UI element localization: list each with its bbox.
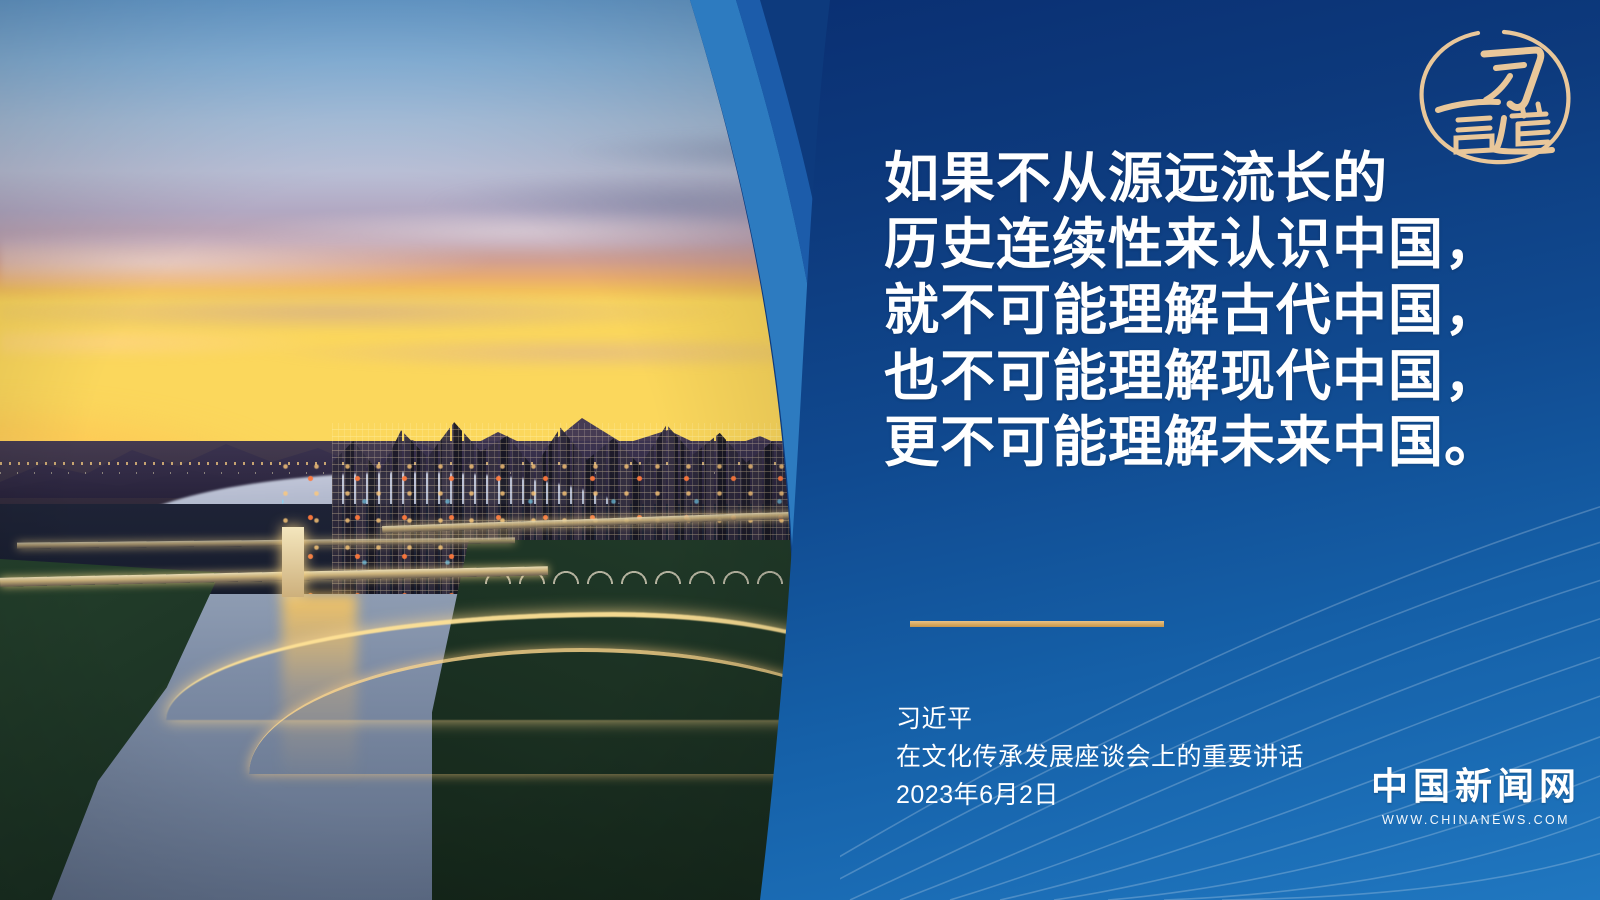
quote-line-2: 历史连续性来认识中国， (884, 212, 1584, 278)
quote-line-4: 也不可能理解现代中国， (884, 344, 1584, 410)
chinanews-logo: 中国新闻网 WWW.CHINANEWS.COM (1368, 766, 1584, 827)
quote-text: 如果不从源远流长的 历史连续性来认识中国， 就不可能理解古代中国， 也不可能理解… (884, 146, 1584, 476)
quote-line-5: 更不可能理解未来中国。 (884, 410, 1584, 476)
chinanews-url: WWW.CHINANEWS.COM (1368, 813, 1584, 827)
quote-line-1: 如果不从源远流长的 (884, 146, 1584, 212)
bridge-pylon (282, 527, 304, 597)
cityscape-photo (0, 0, 830, 900)
gold-divider-rule (910, 621, 1164, 627)
attribution-speaker: 习近平 (896, 700, 1456, 738)
chinanews-name: 中国新闻网 (1368, 766, 1584, 810)
poster-root: 如果不从源远流长的 历史连续性来认识中国， 就不可能理解古代中国， 也不可能理解… (0, 0, 1600, 900)
quote-line-3: 就不可能理解古代中国， (884, 278, 1584, 344)
seal-char-dao (1496, 104, 1552, 152)
